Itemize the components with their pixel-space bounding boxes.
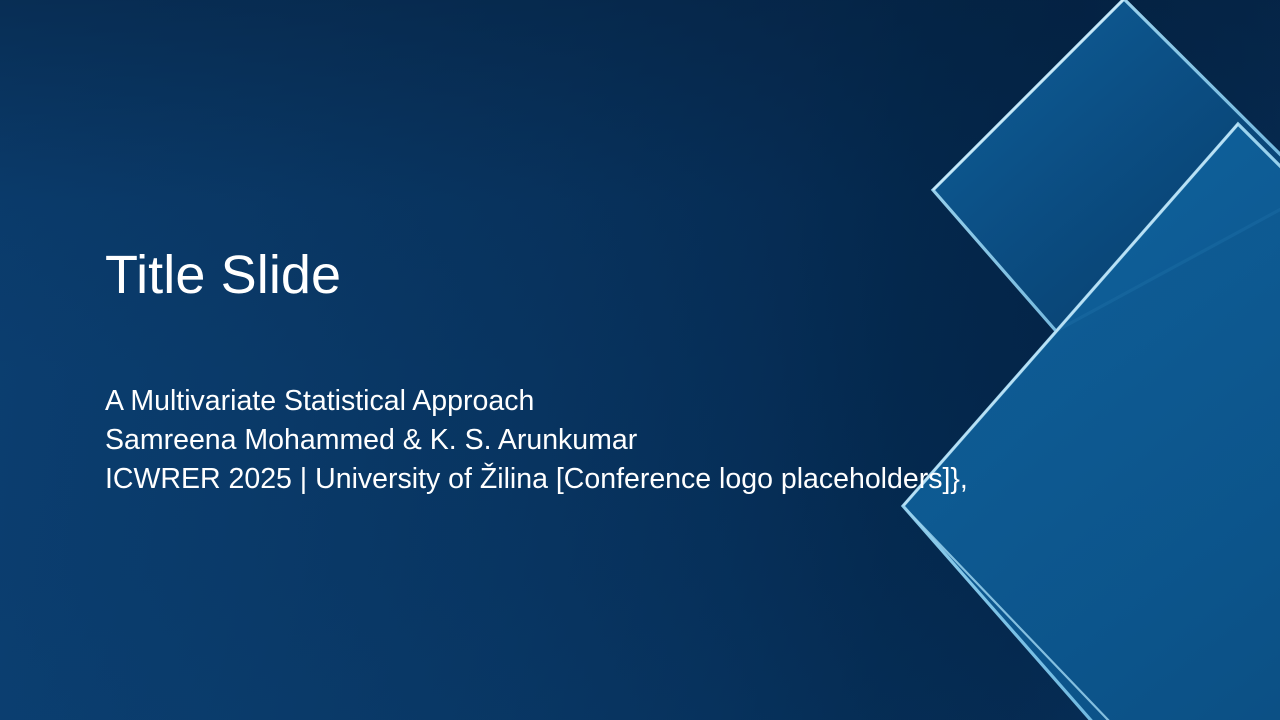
subtitle-line-3: ICWRER 2025 | University of Žilina [Conf… bbox=[105, 460, 1165, 499]
slide-background-vertical-shade bbox=[0, 0, 1280, 720]
subtitle-line-2: Samreena Mohammed & K. S. Arunkumar bbox=[105, 421, 1165, 460]
subtitle-line-1: A Multivariate Statistical Approach bbox=[105, 382, 1165, 421]
page-title: Title Slide bbox=[105, 248, 1115, 302]
title-slide: Title Slide A Multivariate Statistical A… bbox=[0, 0, 1280, 720]
subtitle-container: A Multivariate Statistical Approach Samr… bbox=[105, 382, 1165, 498]
title-container: Title Slide bbox=[105, 248, 1115, 302]
